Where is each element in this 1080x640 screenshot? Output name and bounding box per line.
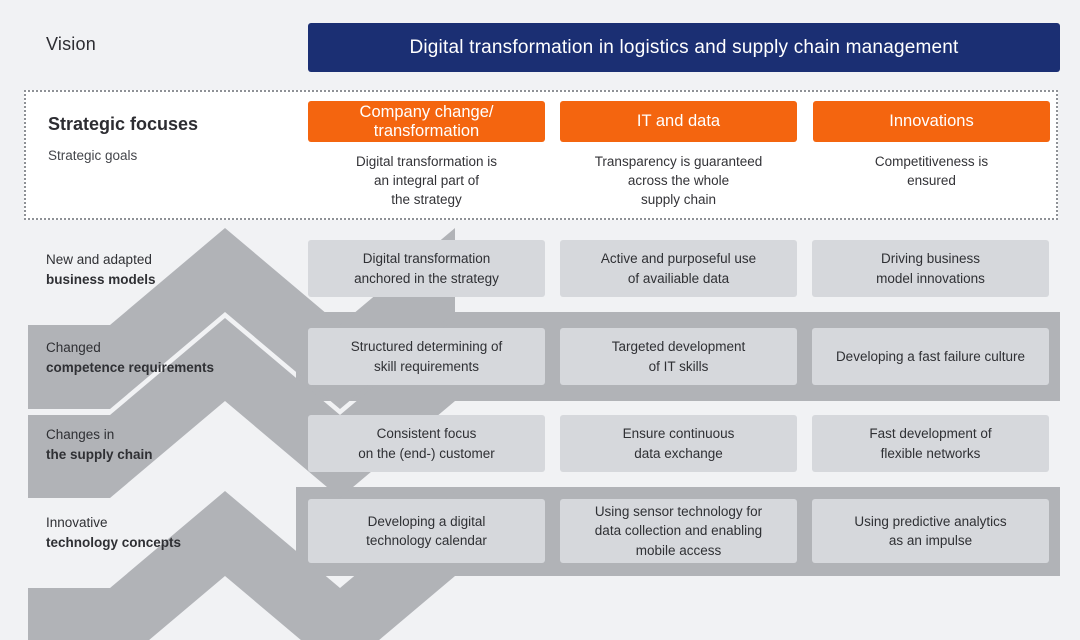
- strategic-goal-2: Transparency is guaranteedacross the who…: [560, 152, 797, 209]
- vision-label: Vision: [46, 34, 96, 55]
- row-label-line2: competence requirements: [46, 360, 214, 375]
- card-r3-c1[interactable]: Consistent focuson the (end-) customer: [308, 415, 545, 472]
- card-text: Using sensor technology fordata collecti…: [595, 502, 762, 559]
- card-text: Developing a digitaltechnology calendar: [366, 512, 487, 550]
- card-text: Fast development offlexible networks: [869, 424, 991, 462]
- content-row-business-models: New and adapted business models Digital …: [0, 240, 1080, 297]
- strategic-focuses-panel: Strategic focuses Strategic goals Compan…: [24, 90, 1058, 220]
- card-r4-c1[interactable]: Developing a digitaltechnology calendar: [308, 499, 545, 563]
- card-r1-c1[interactable]: Digital transformationanchored in the st…: [308, 240, 545, 297]
- card-text: Active and purposeful useof availiable d…: [601, 249, 756, 287]
- row-label-competence-requirements: Changed competence requirements: [46, 338, 296, 377]
- card-text: Driving businessmodel innovations: [876, 249, 985, 287]
- vision-banner-text: Digital transformation in logistics and …: [409, 37, 958, 59]
- row-label-technology-concepts: Innovative technology concepts: [46, 513, 296, 552]
- row-label-line1: Changed: [46, 340, 101, 355]
- card-text: Developing a fast failure culture: [836, 347, 1025, 366]
- strategic-chip-label-3: Innovations: [889, 112, 973, 130]
- card-r2-c1[interactable]: Structured determining ofskill requireme…: [308, 328, 545, 385]
- strategic-goal-1: Digital transformation isan integral par…: [308, 152, 545, 209]
- strategic-goal-3: Competitiveness isensured: [813, 152, 1050, 190]
- row-label-line2: technology concepts: [46, 535, 181, 550]
- strategic-chip-label-1: Company change/transformation: [360, 103, 494, 139]
- diagram-canvas: Vision Digital transformation in logisti…: [0, 0, 1080, 640]
- content-row-technology-concepts: Innovative technology concepts Developin…: [0, 499, 1080, 563]
- card-text: Using predictive analyticsas an impulse: [854, 512, 1006, 550]
- row-label-line1: Changes in: [46, 427, 114, 442]
- card-text: Ensure continuousdata exchange: [623, 424, 735, 462]
- row-label-business-models: New and adapted business models: [46, 250, 296, 289]
- content-row-competence-requirements: Changed competence requirements Structur…: [0, 328, 1080, 385]
- card-text: Structured determining ofskill requireme…: [351, 337, 503, 375]
- content-row-supply-chain: Changes in the supply chain Consistent f…: [0, 415, 1080, 472]
- card-r1-c2[interactable]: Active and purposeful useof availiable d…: [560, 240, 797, 297]
- vision-row: Vision Digital transformation in logisti…: [0, 0, 1080, 92]
- card-text: Digital transformationanchored in the st…: [354, 249, 499, 287]
- strategic-goals-label: Strategic goals: [48, 148, 137, 163]
- card-r1-c3[interactable]: Driving businessmodel innovations: [812, 240, 1049, 297]
- card-r4-c2[interactable]: Using sensor technology fordata collecti…: [560, 499, 797, 563]
- card-r4-c3[interactable]: Using predictive analyticsas an impulse: [812, 499, 1049, 563]
- strategic-column-1: Company change/transformation Digital tr…: [308, 101, 545, 209]
- card-text: Consistent focuson the (end-) customer: [358, 424, 495, 462]
- row-label-line1: New and adapted: [46, 252, 152, 267]
- card-text: Targeted developmentof IT skills: [612, 337, 746, 375]
- vision-banner[interactable]: Digital transformation in logistics and …: [308, 23, 1060, 72]
- strategic-chip-company-change[interactable]: Company change/transformation: [308, 101, 545, 142]
- card-r3-c3[interactable]: Fast development offlexible networks: [812, 415, 1049, 472]
- row-label-supply-chain: Changes in the supply chain: [46, 425, 296, 464]
- strategic-chip-label-2: IT and data: [637, 112, 720, 130]
- strategic-column-2: IT and data Transparency is guaranteedac…: [560, 101, 797, 209]
- strategic-chip-innovations[interactable]: Innovations: [813, 101, 1050, 142]
- row-label-line1: Innovative: [46, 515, 108, 530]
- card-r2-c3[interactable]: Developing a fast failure culture: [812, 328, 1049, 385]
- strategic-focuses-title: Strategic focuses: [48, 114, 198, 135]
- row-label-line2: the supply chain: [46, 447, 153, 462]
- strategic-chip-it-and-data[interactable]: IT and data: [560, 101, 797, 142]
- card-r3-c2[interactable]: Ensure continuousdata exchange: [560, 415, 797, 472]
- card-r2-c2[interactable]: Targeted developmentof IT skills: [560, 328, 797, 385]
- strategic-column-3: Innovations Competitiveness isensured: [813, 101, 1050, 190]
- row-label-line2: business models: [46, 272, 156, 287]
